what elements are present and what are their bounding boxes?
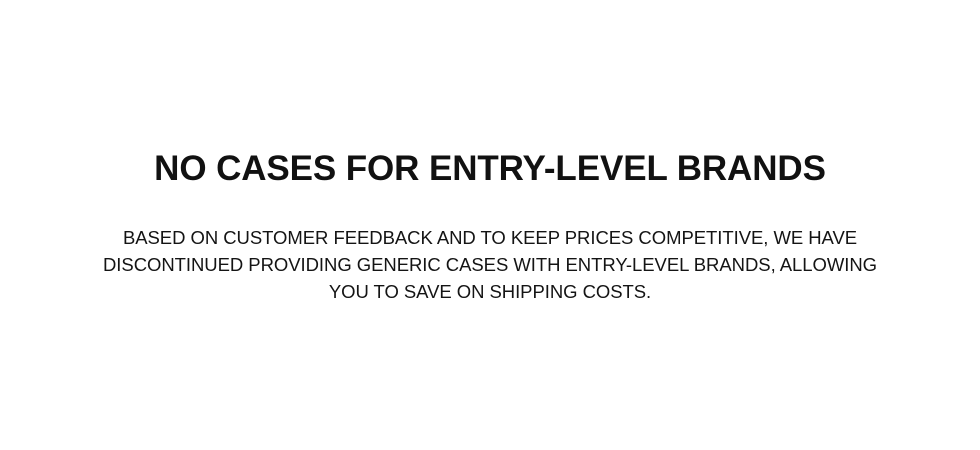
notice-body-text: BASED ON CUSTOMER FEEDBACK AND TO KEEP P… [90, 186, 890, 305]
notice-heading: NO CASES FOR ENTRY-LEVEL BRANDS [90, 152, 890, 186]
notice-banner-section: NO CASES FOR ENTRY-LEVEL BRANDS BASED ON… [0, 0, 980, 450]
notice-body-line: YOU TO SAVE ON SHIPPING COSTS. [90, 278, 890, 305]
notice-content-container: NO CASES FOR ENTRY-LEVEL BRANDS BASED ON… [90, 152, 890, 305]
notice-body-line: BASED ON CUSTOMER FEEDBACK AND TO KEEP P… [90, 224, 890, 251]
notice-body-line: DISCONTINUED PROVIDING GENERIC CASES WIT… [90, 251, 890, 278]
